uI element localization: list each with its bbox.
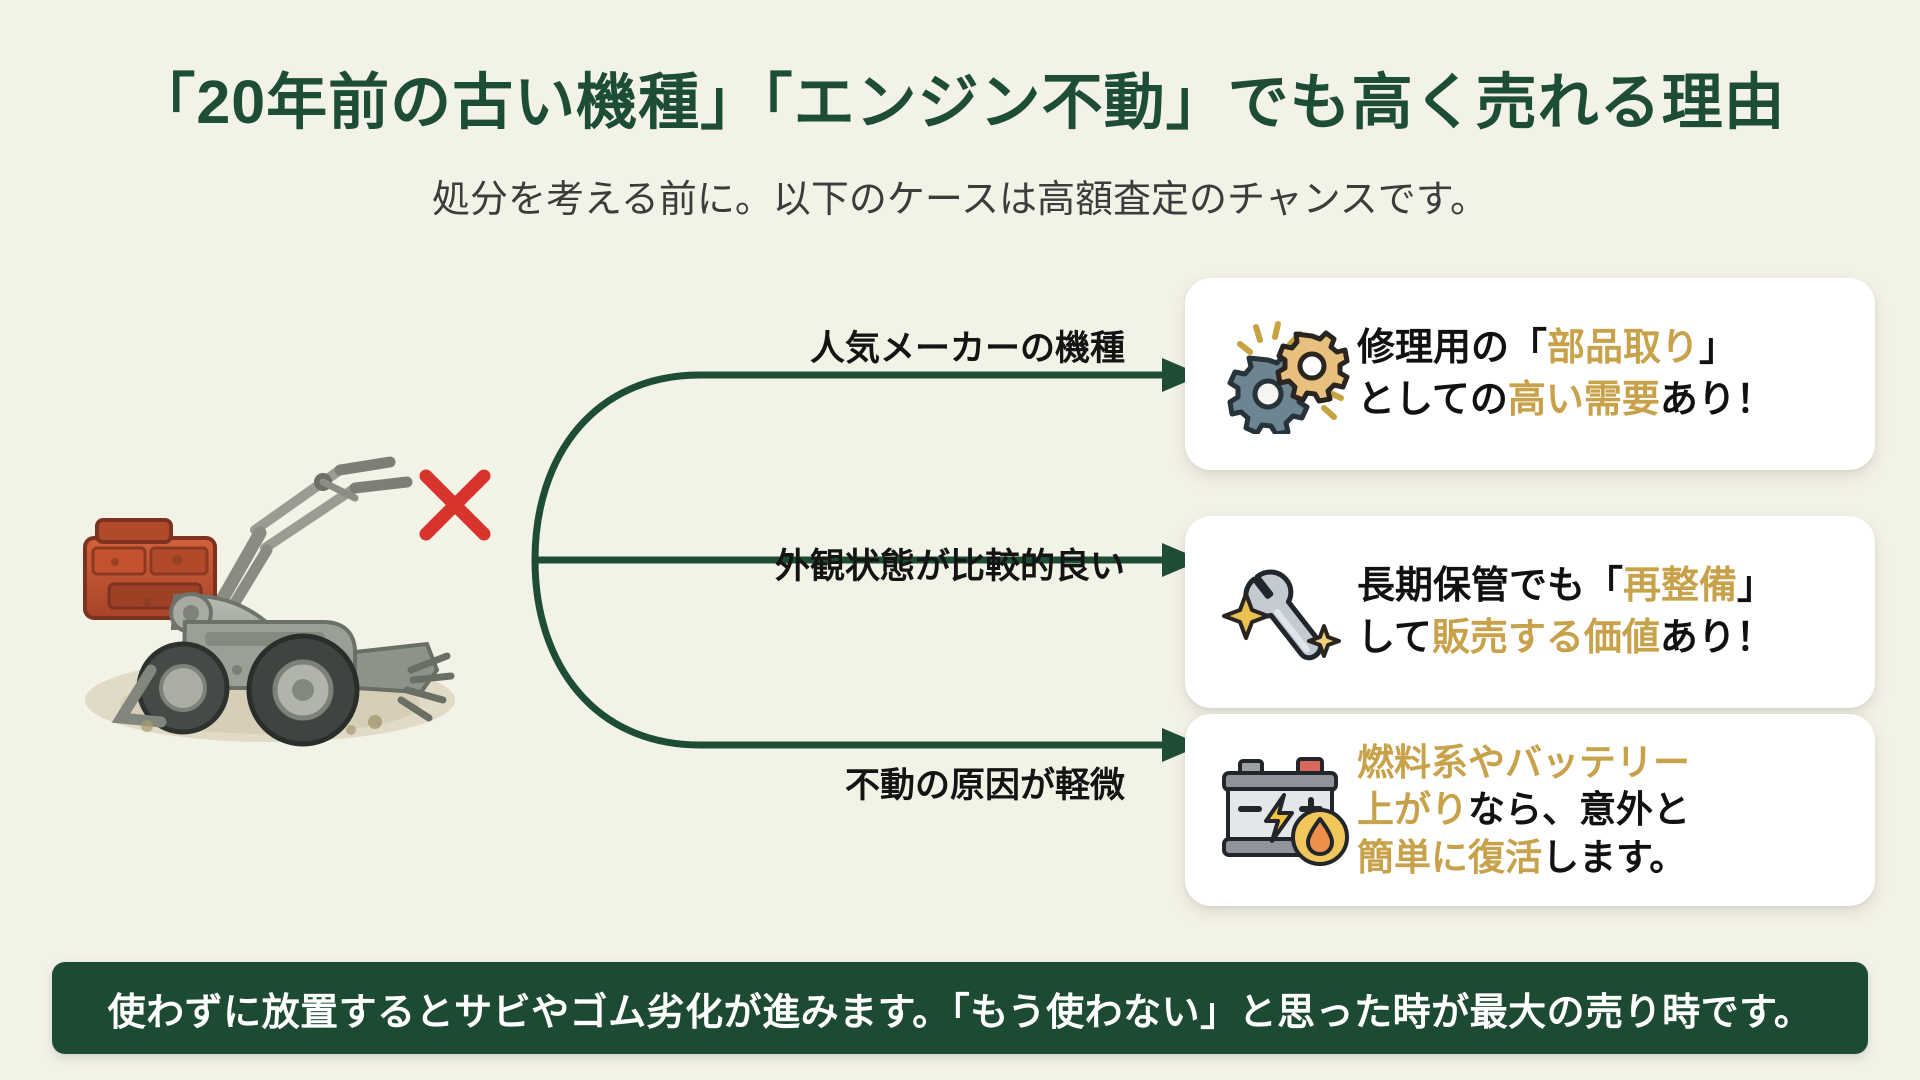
card-text-line: 燃料系やバッテリー bbox=[1357, 739, 1849, 786]
highlighted-phrase: 再整備 bbox=[1623, 565, 1737, 607]
plain-phrase: なら、意外と bbox=[1468, 789, 1690, 830]
plain-phrase: します。 bbox=[1542, 837, 1686, 878]
card-text-line: としての高い需要あり！ bbox=[1357, 374, 1849, 426]
plain-phrase: 修理用の「 bbox=[1357, 327, 1547, 369]
branch-label-2: 不動の原因が軽微 bbox=[745, 757, 1125, 808]
page-subtitle: 処分を考える前に。以下のケースは高額査定のチャンスです。 bbox=[0, 168, 1920, 223]
card-text-line: して販売する価値あり！ bbox=[1357, 612, 1849, 664]
highlighted-phrase: 高い需要 bbox=[1508, 379, 1660, 421]
card-text-2: 燃料系やバッテリー上がりなら、意外と簡単に復活します。 bbox=[1357, 739, 1849, 881]
card-text-0: 修理用の「部品取り」としての高い需要あり！ bbox=[1357, 322, 1849, 427]
card-text-line: 上がりなら、意外と bbox=[1357, 786, 1849, 833]
branch-label-0: 人気メーカーの機種 bbox=[735, 320, 1125, 371]
plain-phrase: 」 bbox=[1737, 565, 1775, 607]
bottom-callout-banner: 使わずに放置するとサビやゴム劣化が進みます。「もう使わない」と思った時が最大の売… bbox=[52, 962, 1868, 1054]
highlighted-phrase: 上がり bbox=[1357, 789, 1468, 830]
plain-phrase: あり！ bbox=[1660, 379, 1774, 421]
plain-phrase: 」 bbox=[1699, 327, 1737, 369]
wrench-sparkle-icon bbox=[1215, 552, 1357, 672]
rusty-tiller-illustration bbox=[55, 370, 495, 770]
gears-icon bbox=[1215, 314, 1357, 434]
plain-phrase: あり！ bbox=[1660, 617, 1774, 659]
card-text-1: 長期保管でも「再整備」して販売する価値あり！ bbox=[1357, 560, 1849, 665]
card-text-line: 修理用の「部品取り」 bbox=[1357, 322, 1849, 374]
highlighted-phrase: 部品取り bbox=[1547, 327, 1699, 369]
branch-label-1: 外観状態が比較的良い bbox=[700, 538, 1125, 589]
plain-phrase: としての bbox=[1357, 379, 1508, 421]
highlighted-phrase: バッテリー bbox=[1505, 742, 1690, 783]
highlighted-phrase: 燃料系や bbox=[1357, 742, 1505, 783]
plain-phrase: 長期保管でも「 bbox=[1357, 565, 1623, 607]
battery-fuel-icon bbox=[1215, 751, 1357, 869]
highlighted-phrase: 販売する価値 bbox=[1432, 617, 1660, 659]
benefit-card-resale-value[interactable]: 長期保管でも「再整備」して販売する価値あり！ bbox=[1185, 516, 1875, 708]
plain-phrase: して bbox=[1357, 617, 1432, 659]
infographic-canvas: 「20年前の古い機種」「エンジン不動」でも高く売れる理由 処分を考える前に。以下… bbox=[0, 0, 1920, 1080]
benefit-card-easy-revival[interactable]: 燃料系やバッテリー上がりなら、意外と簡単に復活します。 bbox=[1185, 714, 1875, 906]
card-text-line: 長期保管でも「再整備」 bbox=[1357, 560, 1849, 612]
card-text-line: 簡単に復活します。 bbox=[1357, 834, 1849, 881]
cross-mark-icon bbox=[415, 465, 495, 545]
benefit-card-parts-demand[interactable]: 修理用の「部品取り」としての高い需要あり！ bbox=[1185, 278, 1875, 470]
banner-text: 使わずに放置するとサビやゴム劣化が進みます。「もう使わない」と思った時が最大の売… bbox=[108, 981, 1813, 1036]
highlighted-phrase: 簡単に復活 bbox=[1357, 837, 1542, 878]
page-title: 「20年前の古い機種」「エンジン不動」でも高く売れる理由 bbox=[0, 52, 1920, 141]
